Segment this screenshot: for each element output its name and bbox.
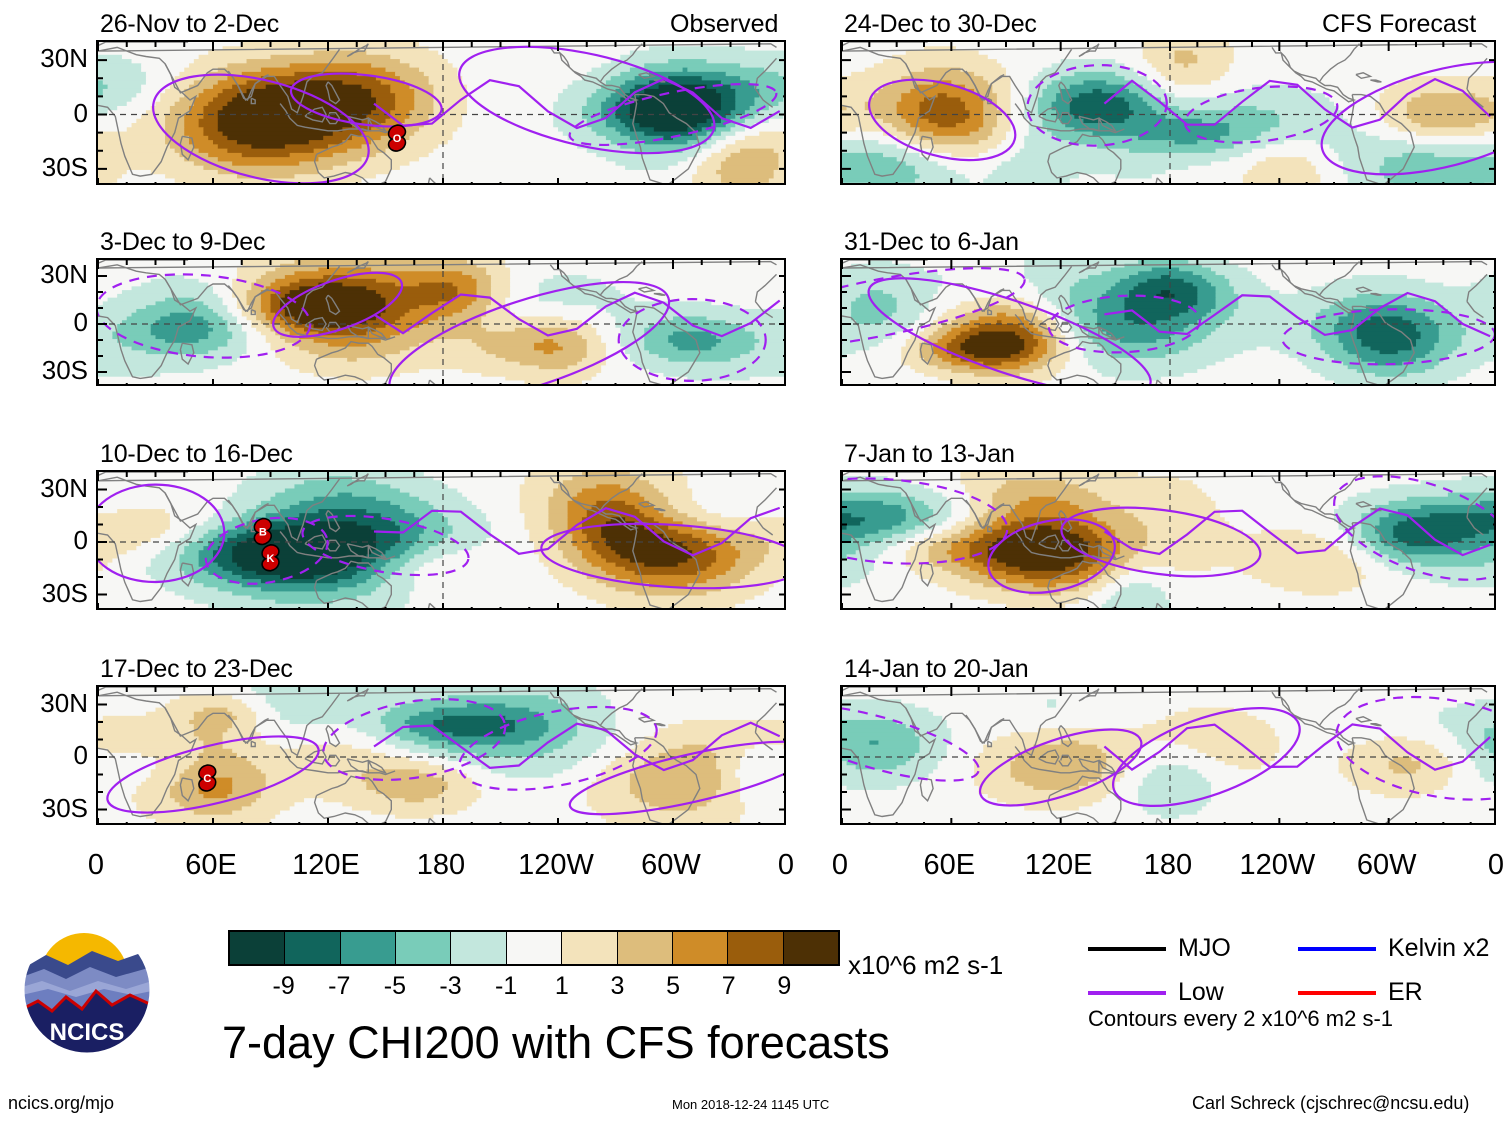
storm-marker-label: C <box>203 773 211 785</box>
colorbar-swatch-4 <box>451 932 506 964</box>
map-svg-p5 <box>842 42 1496 185</box>
colorbar-units-label: x10^6 m2 s-1 <box>848 952 1003 978</box>
ncics-logo-svg: NCICS <box>22 925 152 1055</box>
x-axis-label-forecast-3: 180 <box>1108 851 1228 880</box>
map-panel-p8 <box>840 685 1496 825</box>
footer-site-link[interactable]: ncics.org/mjo <box>8 1094 114 1112</box>
map-svg-p6 <box>842 260 1496 386</box>
storm-marker-O[interactable]: O <box>389 125 406 151</box>
map-svg-p7 <box>842 472 1496 610</box>
shaded-field-p2 <box>98 260 786 386</box>
legend-label-mjo: MJO <box>1178 936 1231 961</box>
x-axis-label-forecast-4: 120W <box>1217 851 1337 880</box>
panel-title-p7: 7-Jan to 13-Jan <box>844 442 1015 467</box>
y-axis-label-30N: 30N <box>8 45 88 71</box>
x-axis-label-forecast-0: 0 <box>780 851 900 880</box>
colorbar: -9-7-5-3-113579 <box>228 930 840 1010</box>
colorbar-tick-3: 3 <box>587 974 647 999</box>
map-panel-p5 <box>840 40 1496 185</box>
x-axis-label-forecast-2: 120E <box>999 851 1119 880</box>
shaded-field-p7 <box>842 472 1496 610</box>
main-title: 7-day CHI200 with CFS forecasts <box>222 1020 890 1065</box>
x-axis-label-observed-2: 120E <box>266 851 386 880</box>
y-axis-label-30S: 30S <box>8 154 88 180</box>
x-axis-label-forecast-5: 60W <box>1327 851 1447 880</box>
colorbar-tick-9: 9 <box>754 974 814 999</box>
colorbar-swatch-5 <box>507 932 562 964</box>
contour-interval-note: Contours every 2 x10^6 m2 s-1 <box>1088 1008 1393 1030</box>
shaded-field-p3 <box>98 472 786 610</box>
colorbar-swatch-1 <box>285 932 340 964</box>
y-axis-label-30S: 30S <box>8 580 88 606</box>
column-header-forecast: CFS Forecast <box>1322 12 1476 37</box>
mjo-line-swatch <box>1088 947 1166 951</box>
legend-label-er: ER <box>1388 980 1423 1005</box>
x-axis-label-observed-5: 60W <box>611 851 731 880</box>
kelvin-line-swatch <box>1298 947 1376 951</box>
map-svg-p2 <box>98 260 786 386</box>
legend-item-mjo: MJO <box>1088 936 1231 961</box>
colorbar-tick--9: -9 <box>254 974 314 999</box>
panel-title-p5: 24-Dec to 30-Dec <box>844 12 1037 37</box>
map-panel-p4: C <box>96 685 786 825</box>
legend-label-low: Low <box>1178 980 1224 1005</box>
x-axis-label-observed-4: 120W <box>496 851 616 880</box>
panel-title-p2: 3-Dec to 9-Dec <box>100 230 265 255</box>
y-axis-label-0: 0 <box>8 742 88 768</box>
y-axis-label-0: 0 <box>8 100 88 126</box>
contour-legend: MJO Kelvin x2 Low ER <box>1088 936 1508 1006</box>
colorbar-swatch-9 <box>728 932 783 964</box>
colorbar-tick--1: -1 <box>476 974 536 999</box>
colorbar-swatch-0 <box>230 932 285 964</box>
storm-marker-C[interactable]: C <box>199 765 216 791</box>
y-axis-label-30N: 30N <box>8 261 88 287</box>
legend-item-kelvin: Kelvin x2 <box>1298 936 1489 961</box>
colorbar-tick-1: 1 <box>532 974 592 999</box>
panel-title-p3: 10-Dec to 16-Dec <box>100 442 293 467</box>
colorbar-tick--7: -7 <box>309 974 369 999</box>
legend-label-kelvin: Kelvin x2 <box>1388 936 1489 961</box>
column-header-observed: Observed <box>670 12 778 37</box>
colorbar-swatch-8 <box>673 932 728 964</box>
low-line-swatch <box>1088 991 1166 995</box>
map-panel-p3: BK <box>96 470 786 610</box>
panel-title-p1: 26-Nov to 2-Dec <box>100 12 279 37</box>
colorbar-swatch-10 <box>784 932 838 964</box>
storm-marker-label: B <box>259 527 267 539</box>
map-panel-p2 <box>96 258 786 386</box>
colorbar-tick-7: 7 <box>699 974 759 999</box>
colorbar-swatch-3 <box>396 932 451 964</box>
footer-timestamp: Mon 2018-12-24 1145 UTC <box>672 1098 829 1111</box>
y-axis-label-0: 0 <box>8 527 88 553</box>
y-axis-label-30S: 30S <box>8 357 88 383</box>
map-svg-p1: O <box>98 42 786 185</box>
ncics-logo: NCICS <box>22 925 152 1055</box>
map-svg-p4: C <box>98 687 786 825</box>
colorbar-swatch-7 <box>618 932 673 964</box>
map-panel-p6 <box>840 258 1496 386</box>
map-svg-p3: BK <box>98 472 786 610</box>
y-axis-label-0: 0 <box>8 309 88 335</box>
footer-credit: Carl Schreck (cjschrec@ncsu.edu) <box>1192 1094 1469 1112</box>
panel-title-p6: 31-Dec to 6-Jan <box>844 230 1019 255</box>
y-axis-label-30S: 30S <box>8 795 88 821</box>
ncics-logo-text: NCICS <box>50 1019 125 1046</box>
y-axis-label-30N: 30N <box>8 475 88 501</box>
shaded-field-p5 <box>842 42 1496 185</box>
colorbar-tick--5: -5 <box>365 974 425 999</box>
shaded-field-p1 <box>98 42 786 185</box>
panel-title-p4: 17-Dec to 23-Dec <box>100 657 293 682</box>
x-axis-label-observed-3: 180 <box>381 851 501 880</box>
storm-marker-label: K <box>267 553 275 565</box>
colorbar-swatch-6 <box>562 932 617 964</box>
x-axis-label-forecast-1: 60E <box>889 851 1009 880</box>
colorbar-tick-5: 5 <box>643 974 703 999</box>
y-axis-label-30N: 30N <box>8 690 88 716</box>
legend-item-er: ER <box>1298 980 1423 1005</box>
panel-title-p8: 14-Jan to 20-Jan <box>844 657 1028 682</box>
er-line-swatch <box>1298 991 1376 995</box>
legend-item-low: Low <box>1088 980 1224 1005</box>
storm-marker-K[interactable]: K <box>262 545 279 571</box>
map-svg-p8 <box>842 687 1496 825</box>
map-panel-p1: O <box>96 40 786 185</box>
storm-marker-B[interactable]: B <box>254 519 271 545</box>
x-axis-label-observed-0: 0 <box>36 851 156 880</box>
colorbar-strip <box>228 930 840 966</box>
colorbar-swatch-2 <box>341 932 396 964</box>
colorbar-tick--3: -3 <box>421 974 481 999</box>
x-axis-label-forecast-6: 0 <box>1436 851 1510 880</box>
x-axis-label-observed-1: 60E <box>151 851 271 880</box>
map-panel-p7 <box>840 470 1496 610</box>
storm-marker-label: O <box>393 133 402 145</box>
